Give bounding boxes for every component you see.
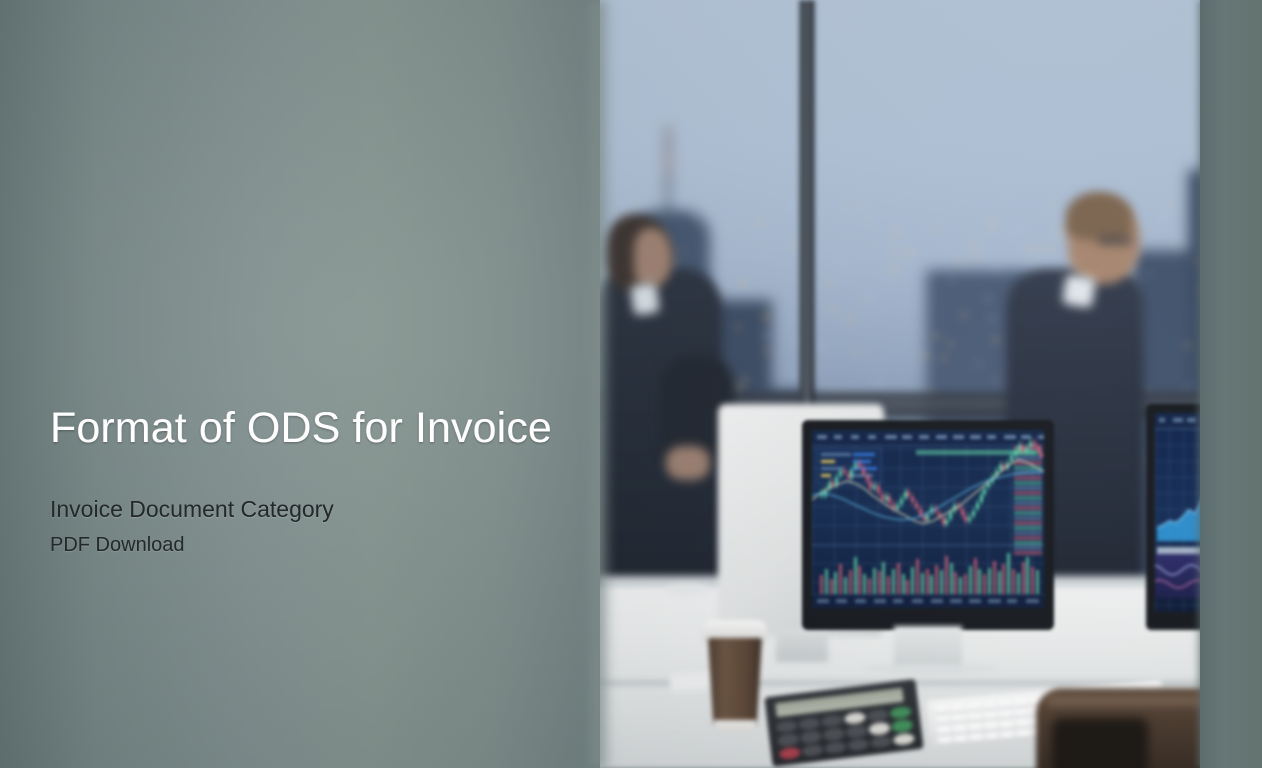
title-wall-edge — [586, 0, 612, 768]
title-wall — [0, 0, 600, 768]
document-category: Invoice Document Category — [50, 498, 580, 521]
download-label: PDF Download — [50, 535, 580, 555]
title-block: Format of ODS for Invoice Invoice Docume… — [50, 404, 580, 555]
saucer — [664, 584, 710, 596]
person-right-collar — [1062, 274, 1096, 308]
trading-monitor-primary — [802, 420, 1054, 630]
volume-pane — [812, 545, 1044, 594]
terminal-statusbar — [812, 594, 1044, 608]
monitor-base — [862, 664, 998, 674]
right-grey-band — [1200, 0, 1262, 768]
chair-shadow — [1052, 718, 1148, 768]
person-right-glasses — [1098, 236, 1132, 245]
person-left-face — [634, 228, 672, 286]
slide-root: Format of ODS for Invoice Invoice Docume… — [0, 0, 1262, 768]
person-left-hand — [666, 446, 710, 480]
imac-stand — [776, 628, 828, 662]
trading-screen-primary — [812, 430, 1044, 608]
person-left-collar — [630, 282, 660, 315]
person-right-hair — [1066, 192, 1132, 240]
coffee-cup — [706, 620, 764, 728]
page-title: Format of ODS for Invoice — [50, 404, 580, 452]
coffee-cup-sleeve — [708, 638, 762, 726]
coffee-cup-base — [714, 720, 756, 732]
